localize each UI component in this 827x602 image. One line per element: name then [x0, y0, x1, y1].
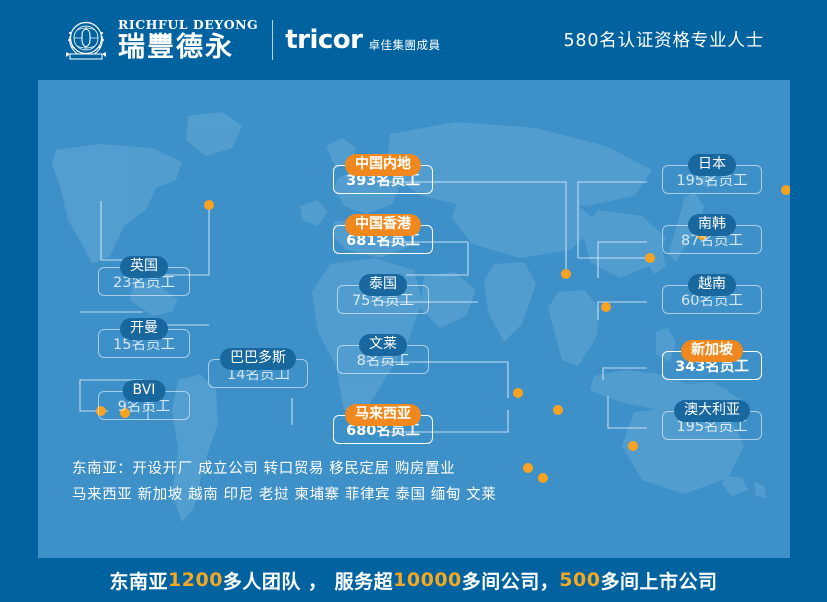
location-name: 中国香港 [345, 214, 421, 236]
location-name: BVI [123, 380, 166, 402]
footer-text-4: 多间上市公司 [600, 567, 717, 594]
footer-number-companies: 10000 [393, 569, 462, 591]
brand-divider [272, 20, 273, 60]
header-tagline: 580名认证资格专业人士 [563, 0, 764, 78]
laurel-crest-icon [60, 14, 112, 66]
map-panel: 英国 23名员工 开曼 15名员工 BVI 9名员工 巴巴多斯 14名员工 中国… [38, 80, 790, 558]
location-name: 新加坡 [681, 340, 743, 362]
location-name: 中国内地 [345, 154, 421, 176]
brand-name-cn: 瑞豐德永 [118, 33, 258, 63]
location-name: 南韩 [688, 214, 736, 236]
service-notes: 东南亚：开设开厂 成立公司 转口贸易 移民定居 购房置业 马来西亚 新加坡 越南… [72, 456, 496, 508]
footer-text-2: 多人团队 ， 服务超 [223, 567, 393, 594]
brand-logo: RICHFUL DEYONG 瑞豐德永 tricor 卓佳集團成員 [60, 14, 440, 66]
location-name: 日本 [688, 154, 736, 176]
location-name: 巴巴多斯 [220, 348, 296, 370]
location-name: 越南 [688, 274, 736, 296]
partner-logo: tricor 卓佳集團成員 [285, 27, 440, 53]
infographic-root: RICHFUL DEYONG 瑞豐德永 tricor 卓佳集團成員 580名认证… [0, 0, 827, 602]
page-footer: 东南亚1200多人团队 ， 服务超10000多间公司，500多间上市公司 [0, 558, 827, 602]
brand-wordmark: RICHFUL DEYONG 瑞豐德永 [118, 18, 258, 63]
location-name: 文莱 [359, 334, 407, 356]
partner-subtitle: 卓佳集團成員 [368, 37, 440, 53]
location-name: 澳大利亚 [674, 400, 750, 422]
footer-number-listed: 500 [559, 569, 600, 591]
notes-line-countries: 马来西亚 新加坡 越南 印尼 老挝 柬埔寨 菲律宾 泰国 缅甸 文莱 [72, 482, 496, 508]
notes-line-services: 东南亚：开设开厂 成立公司 转口贸易 移民定居 购房置业 [72, 456, 496, 482]
location-name: 马来西亚 [345, 404, 421, 426]
location-name: 泰国 [359, 274, 407, 296]
page-header: RICHFUL DEYONG 瑞豐德永 tricor 卓佳集團成員 580名认证… [0, 0, 827, 78]
footer-number-team: 1200 [168, 569, 223, 591]
footer-text-3: 多间公司， [462, 567, 560, 594]
footer-text-1: 东南亚 [110, 567, 169, 594]
brand-name-en: RICHFUL DEYONG [118, 18, 258, 32]
location-name: 开曼 [120, 318, 168, 340]
location-name: 英国 [120, 256, 168, 278]
partner-name: tricor [285, 27, 362, 53]
